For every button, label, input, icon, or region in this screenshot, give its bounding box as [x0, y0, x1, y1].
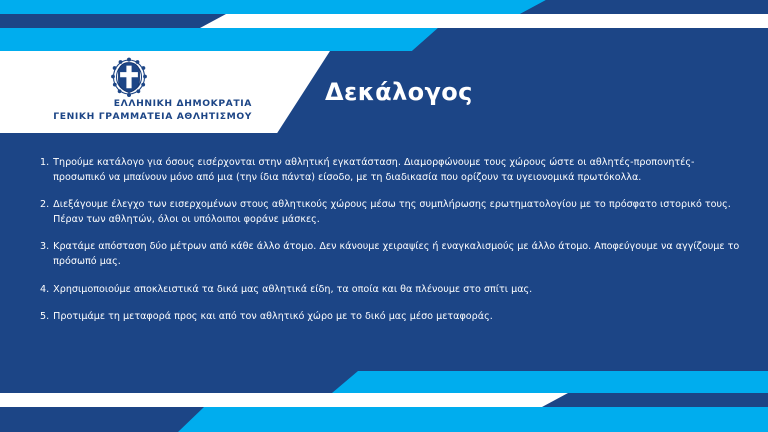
guidelines-list: 1. Τηρούμε κατάλογο για όσους εισέρχοντα… [40, 156, 740, 338]
list-item-number: 3. [40, 240, 53, 269]
organization-name: ΕΛΛΗΝΙΚΗ ΔΗΜΟΚΡΑΤΙΑ ΓΕΝΙΚΗ ΓΡΑΜΜΑΤΕΙΑ ΑΘ… [0, 97, 252, 123]
list-item: 5. Προτιμάμε τη μεταφορά προς και από το… [40, 310, 740, 325]
list-item-number: 5. [40, 310, 53, 325]
list-item-number: 4. [40, 283, 53, 298]
presentation-slide: ΕΛΛΗΝΙΚΗ ΔΗΜΟΚΡΑΤΙΑ ΓΕΝΙΚΗ ΓΡΑΜΜΑΤΕΙΑ ΑΘ… [0, 0, 768, 432]
organization-line-1: ΕΛΛΗΝΙΚΗ ΔΗΜΟΚΡΑΤΙΑ [0, 97, 252, 110]
list-item: 4. Χρησιμοποιούμε αποκλειστικά τα δικά μ… [40, 283, 740, 298]
page-title: Δεκάλογος [325, 78, 473, 106]
list-item-text: Κρατάμε απόσταση δύο μέτρων από κάθε άλλ… [53, 240, 740, 269]
list-item-text: Χρησιμοποιούμε αποκλειστικά τα δικά μας … [53, 283, 740, 298]
list-item-text: Διεξάγουμε έλεγχο των εισερχομένων στους… [53, 198, 740, 227]
list-item: 1. Τηρούμε κατάλογο για όσους εισέρχοντα… [40, 156, 740, 185]
list-item-number: 2. [40, 198, 53, 227]
list-item-text: Τηρούμε κατάλογο για όσους εισέρχονται σ… [53, 156, 740, 185]
list-item-number: 1. [40, 156, 53, 185]
greek-coat-of-arms-icon [106, 57, 152, 99]
list-item: 3. Κρατάμε απόσταση δύο μέτρων από κάθε … [40, 240, 740, 269]
list-item: 2. Διεξάγουμε έλεγχο των εισερχομένων στ… [40, 198, 740, 227]
list-item-text: Προτιμάμε τη μεταφορά προς και από τον α… [53, 310, 740, 325]
organization-line-2: ΓΕΝΙΚΗ ΓΡΑΜΜΑΤΕΙΑ ΑΘΛΗΤΙΣΜΟΥ [0, 110, 252, 123]
